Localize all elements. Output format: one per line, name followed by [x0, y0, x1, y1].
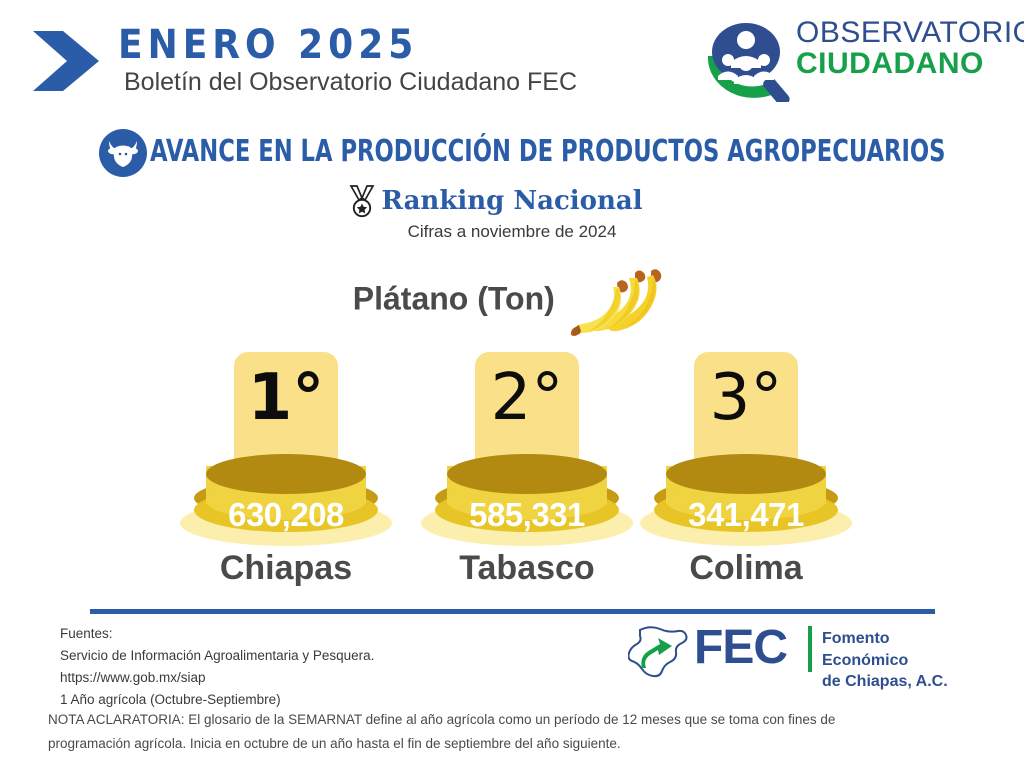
ranking-subtitle: Cifras a noviembre de 2024	[0, 222, 1024, 242]
medal-icon	[347, 185, 377, 224]
page-title: ENERO 2025	[118, 22, 418, 68]
rank-plaque: 2°	[475, 352, 579, 470]
fec-wordmark: FEC	[694, 620, 787, 675]
state-name: Colima	[636, 549, 856, 588]
magnifier-people-icon	[704, 16, 800, 102]
ranking-header: Ranking Nacional	[0, 186, 1024, 216]
rank-plaque: 3°	[694, 352, 798, 470]
logo-line-observatorio: OBSERVATORIO	[796, 18, 1024, 48]
podium-place-3: 3° 341,471 Colima	[636, 344, 856, 594]
value-label: 585,331	[417, 496, 637, 534]
pedestal: 630,208	[176, 454, 396, 559]
rank-number: 3°	[694, 366, 798, 430]
ranking-title: Ranking Nacional	[381, 186, 642, 216]
section-title: AVANCE EN LA PRODUCCIÓN DE PRODUCTOS AGR…	[150, 134, 946, 169]
rank-number: 2°	[475, 366, 579, 430]
sources-text: Fuentes: Servicio de Información Agroali…	[60, 623, 374, 710]
pedestal-top	[447, 454, 607, 494]
pedestal: 341,471	[636, 454, 856, 559]
observatorio-ciudadano-logo: OBSERVATORIO CIUDADANO	[704, 10, 1010, 102]
logo-line-ciudadano: CIUDADANO	[796, 48, 1024, 80]
pedestal: 585,331	[417, 454, 637, 559]
podium-place-2: 2° 585,331 Tabasco	[417, 344, 637, 594]
infographic-page: ENERO 2025 Boletín del Observatorio Ciud…	[0, 0, 1024, 768]
fec-logo: FEC Fomento Económico de Chiapas, A.C.	[628, 622, 978, 680]
podium-chart: 1° 630,208 Chiapas 2°	[0, 344, 1024, 594]
product-name: Plátano (Ton)	[353, 281, 555, 317]
podium-place-1: 1° 630,208 Chiapas	[176, 344, 396, 594]
logo-wordmark: OBSERVATORIO CIUDADANO	[796, 18, 1024, 80]
fec-divider-bar	[808, 626, 812, 672]
state-name: Chiapas	[176, 549, 396, 588]
rank-number: 1°	[234, 366, 338, 430]
state-name: Tabasco	[417, 549, 637, 588]
fec-tagline: Fomento Económico de Chiapas, A.C.	[822, 628, 978, 693]
footer-divider	[90, 609, 935, 614]
pedestal-top	[666, 454, 826, 494]
product-heading: Plátano (Ton)	[0, 263, 1024, 323]
header: ENERO 2025 Boletín del Observatorio Ciud…	[0, 0, 1024, 112]
chiapas-map-arrow-icon	[628, 624, 690, 678]
header-subtitle: Boletín del Observatorio Ciudadano FEC	[124, 68, 577, 97]
value-label: 341,471	[636, 496, 856, 534]
value-label: 630,208	[176, 496, 396, 534]
pedestal-top	[206, 454, 366, 494]
clarifying-note: NOTA ACLARATORIA: El glosario de la SEMA…	[48, 708, 838, 755]
chevron-right-icon	[33, 27, 105, 95]
bananas-icon	[565, 265, 671, 337]
cow-head-icon	[99, 129, 147, 177]
